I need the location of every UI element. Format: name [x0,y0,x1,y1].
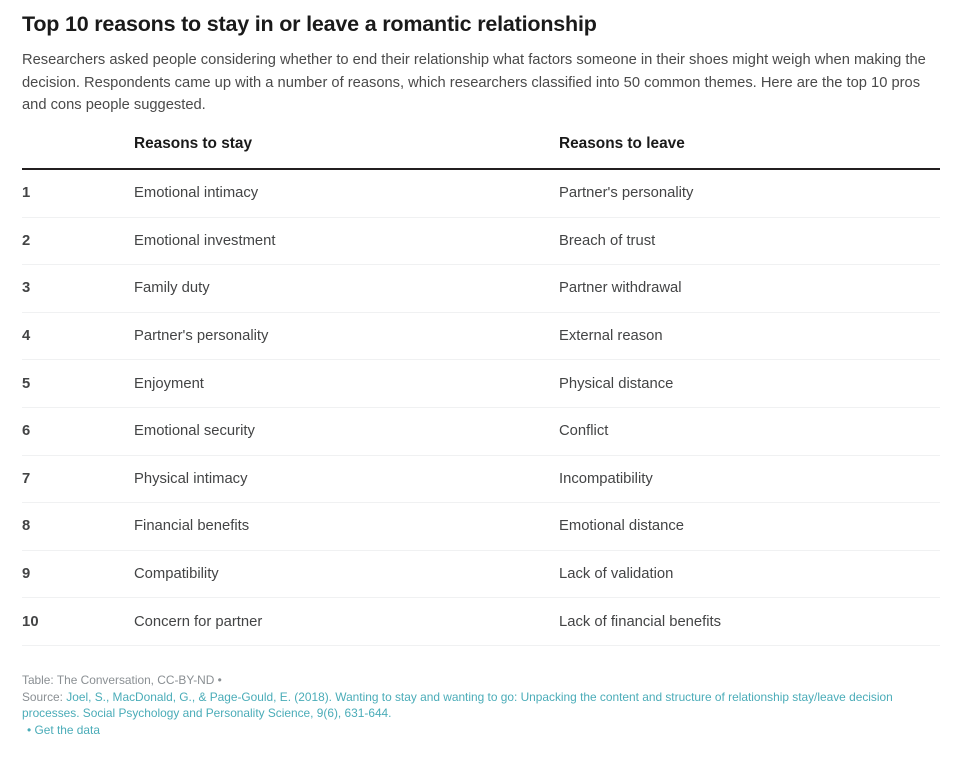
cell-reason-to-leave: Conflict [559,407,940,455]
table-row: 8 Financial benefits Emotional distance [22,503,940,551]
cell-reason-to-stay: Family duty [134,265,559,313]
table-header-row: Reasons to stay Reasons to leave [22,134,940,169]
row-rank: 2 [22,217,134,265]
bullet-separator-icon: • [27,723,31,737]
cell-reason-to-stay: Concern for partner [134,598,559,646]
cell-reason-to-stay: Enjoyment [134,360,559,408]
cell-reason-to-stay: Emotional investment [134,217,559,265]
cell-reason-to-stay: Financial benefits [134,503,559,551]
cell-reason-to-stay: Emotional intimacy [134,169,559,217]
table-credit-line: Table: The Conversation, CC-BY-ND • [22,672,952,689]
bullet-separator-icon: • [218,673,222,687]
cell-reason-to-stay: Physical intimacy [134,455,559,503]
source-citation-link[interactable]: Joel, S., MacDonald, G., & Page-Gould, E… [22,690,893,721]
row-rank: 5 [22,360,134,408]
cell-reason-to-stay: Compatibility [134,550,559,598]
get-data-line: • Get the data [22,722,952,739]
row-rank: 1 [22,169,134,217]
cell-reason-to-leave: Lack of financial benefits [559,598,940,646]
table-row: 6 Emotional security Conflict [22,407,940,455]
get-the-data-link[interactable]: Get the data [34,723,99,737]
graphic-header: Top 10 reasons to stay in or leave a rom… [0,0,980,117]
source-label: Source: [22,690,63,704]
row-rank: 8 [22,503,134,551]
page-subtitle: Researchers asked people considering whe… [22,49,940,117]
table-row: 4 Partner's personality External reason [22,312,940,360]
cell-reason-to-stay: Partner's personality [134,312,559,360]
graphic-canvas: Top 10 reasons to stay in or leave a rom… [0,0,980,764]
table-body: 1 Emotional intimacy Partner's personali… [22,169,940,645]
cell-reason-to-leave: Emotional distance [559,503,940,551]
table-row: 7 Physical intimacy Incompatibility [22,455,940,503]
row-rank: 9 [22,550,134,598]
cell-reason-to-leave: Partner's personality [559,169,940,217]
table-row: 3 Family duty Partner withdrawal [22,265,940,313]
cell-reason-to-leave: Breach of trust [559,217,940,265]
cell-reason-to-leave: External reason [559,312,940,360]
table-row: 10 Concern for partner Lack of financial… [22,598,940,646]
table-credit-label: Table: [22,673,54,687]
table-row: 5 Enjoyment Physical distance [22,360,940,408]
cell-reason-to-stay: Emotional security [134,407,559,455]
source-line: Source: Joel, S., MacDonald, G., & Page-… [22,689,952,722]
cell-reason-to-leave: Physical distance [559,360,940,408]
column-header-reasons-to-leave: Reasons to leave [559,134,940,169]
page-title: Top 10 reasons to stay in or leave a rom… [22,10,940,38]
table-row: 9 Compatibility Lack of validation [22,550,940,598]
row-rank: 3 [22,265,134,313]
cell-reason-to-leave: Lack of validation [559,550,940,598]
row-rank: 7 [22,455,134,503]
graphic-footer: Table: The Conversation, CC-BY-ND • Sour… [22,672,952,738]
ranking-table-container: Reasons to stay Reasons to leave 1 Emoti… [22,134,940,646]
row-rank: 6 [22,407,134,455]
column-header-reasons-to-stay: Reasons to stay [134,134,559,169]
ranking-table: Reasons to stay Reasons to leave 1 Emoti… [22,134,940,646]
table-row: 1 Emotional intimacy Partner's personali… [22,169,940,217]
table-row: 2 Emotional investment Breach of trust [22,217,940,265]
cell-reason-to-leave: Partner withdrawal [559,265,940,313]
row-rank: 10 [22,598,134,646]
column-header-rank [22,134,134,169]
table-credit-value: The Conversation, CC-BY-ND [57,673,215,687]
table-head: Reasons to stay Reasons to leave [22,134,940,169]
cell-reason-to-leave: Incompatibility [559,455,940,503]
row-rank: 4 [22,312,134,360]
